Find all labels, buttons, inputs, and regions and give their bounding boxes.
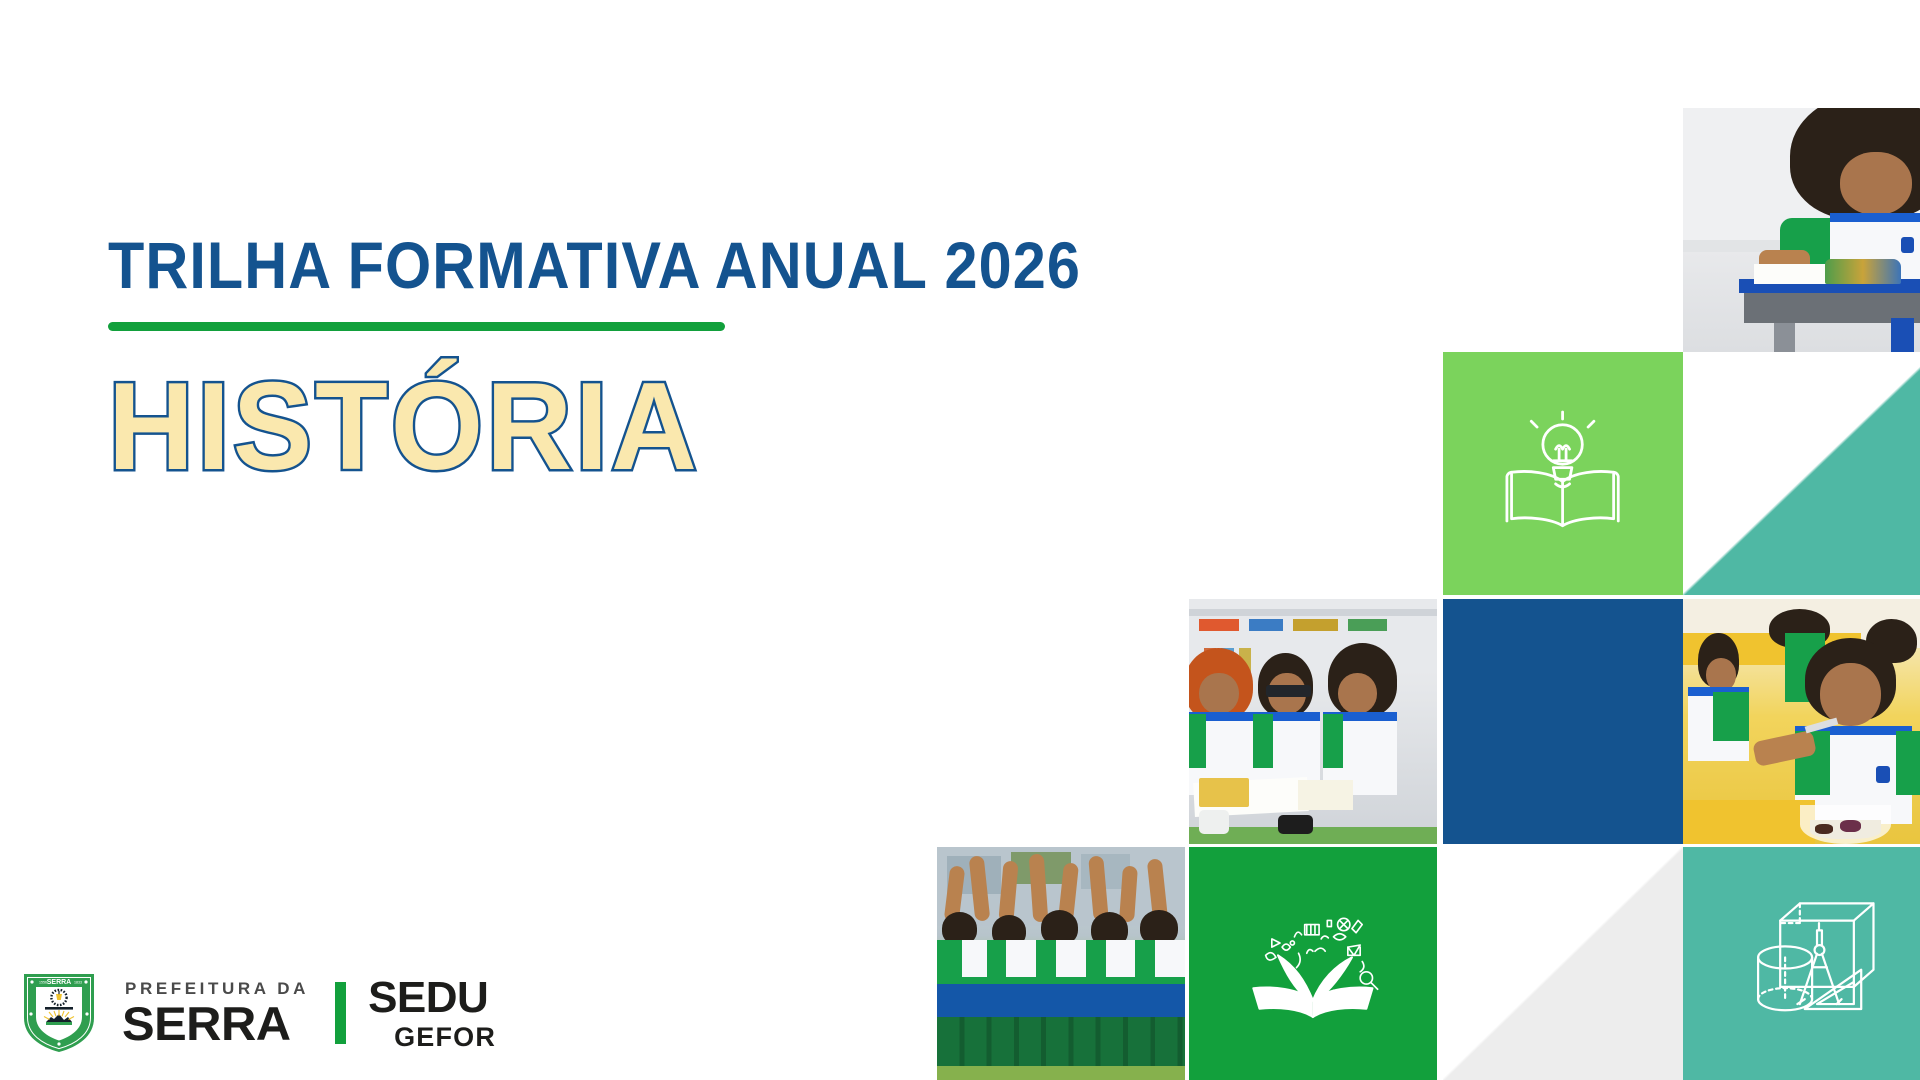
photo-mosaic: [0, 0, 1920, 1080]
page-title: TRILHA FORMATIVA ANUAL 2026: [108, 232, 1296, 298]
hero-text-block: TRILHA FORMATIVA ANUAL 2026 HISTÓRIA: [108, 232, 1428, 489]
tile-lightbulb-book: [1443, 352, 1683, 595]
title-divider-rule: [108, 322, 725, 331]
photo-children-hands-up: [937, 847, 1185, 1080]
svg-text:1556: 1556: [39, 981, 47, 985]
sedu-name: SEDU: [368, 976, 496, 1020]
subject-title: HISTÓRIA: [108, 365, 1375, 489]
sedu-wordmark: SEDU GEFOR: [368, 976, 496, 1051]
serra-coat-of-arms-icon: SERRA 1556 1833: [22, 972, 96, 1054]
tile-solid-blue: [1443, 599, 1683, 844]
photo-girl-eating: [1683, 599, 1920, 844]
prefeitura-name: SERRA: [122, 1000, 317, 1047]
svg-text:SERRA: SERRA: [47, 979, 72, 986]
prefeitura-wordmark: PREFEITURA DA SERRA: [122, 980, 309, 1047]
tile-teal-triangle: [1683, 352, 1920, 595]
open-book-knowledge-icon: [1189, 847, 1437, 1080]
logo-divider: [335, 982, 346, 1044]
tile-geometry-tools: [1683, 847, 1920, 1080]
photo-girl-reading-book: [1683, 108, 1920, 352]
photo-children-reading: [1189, 599, 1437, 844]
svg-text:1833: 1833: [74, 981, 82, 985]
tile-gray-triangle: [1443, 847, 1683, 1080]
lightbulb-book-icon: [1443, 352, 1683, 595]
sedu-subname: GEFOR: [394, 1024, 496, 1051]
institutional-logo-lockup: SERRA 1556 1833 PREFEITURA DA SERRA SEDU…: [22, 970, 496, 1056]
tile-open-book-knowledge: [1189, 847, 1437, 1080]
prefeitura-kicker: PREFEITURA DA: [125, 980, 309, 997]
geometry-tools-icon: [1683, 847, 1920, 1080]
